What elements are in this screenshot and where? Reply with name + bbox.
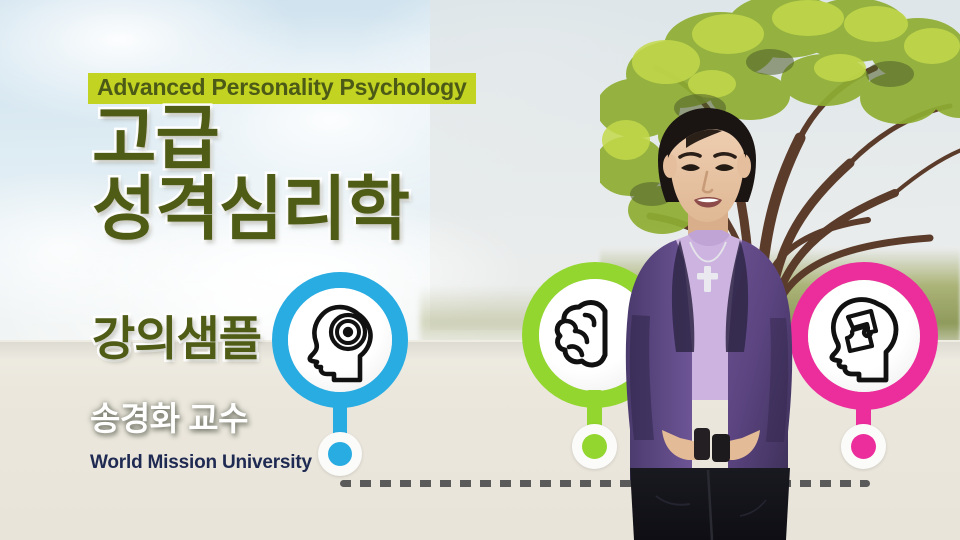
english-subtitle-text: Advanced Personality Psychology bbox=[97, 76, 467, 99]
lecture-title-slide: Advanced Personality Psychology 고급 성격심리학… bbox=[0, 0, 960, 540]
page-title: 고급 성격심리학 bbox=[92, 104, 409, 243]
topic-node-blue[interactable] bbox=[272, 272, 412, 494]
presenter-photo bbox=[570, 100, 850, 540]
instructor-name: 송경화 교수 bbox=[90, 392, 248, 440]
node-dot-inner-blue bbox=[328, 442, 352, 466]
title-line-1: 고급 bbox=[92, 99, 219, 177]
head-target-icon bbox=[294, 294, 386, 386]
title-line-2: 성격심리학 bbox=[92, 175, 409, 244]
node-dot-inner-pink bbox=[851, 434, 876, 459]
korean-subtitle: 강의샘플 bbox=[92, 300, 261, 369]
